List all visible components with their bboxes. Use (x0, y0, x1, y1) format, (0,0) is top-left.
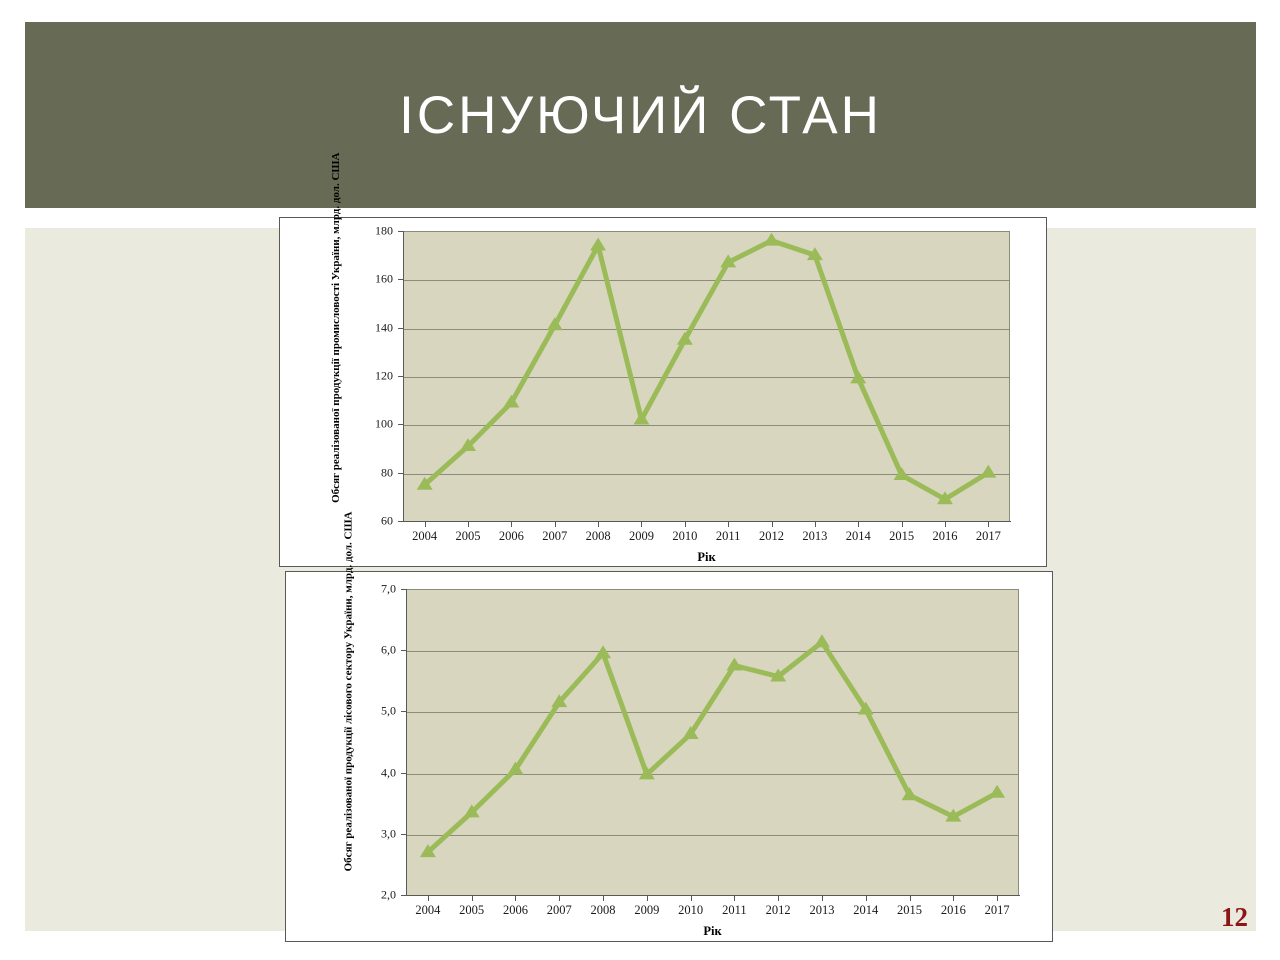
chart-forest-marker (726, 658, 742, 671)
chart-forest: Обсяг реалізованої продукції лісового се… (286, 572, 1052, 941)
chart-industry-line (425, 241, 989, 500)
chart-forest-marker (595, 645, 611, 658)
chart-forest-marker (814, 634, 830, 647)
page-title: Існуючий стан (25, 22, 1256, 208)
chart-forest-line (428, 642, 997, 852)
chart-industry: Обсяг реалізованої продукції промисловос… (280, 218, 1046, 566)
chart-industry-marker (850, 370, 866, 383)
page-number: 12 (1221, 902, 1248, 933)
chart-forest-marker (989, 785, 1005, 798)
chart-industry-marker (980, 465, 996, 478)
chart-industry-frame: Обсяг реалізованої продукції промисловос… (279, 217, 1047, 567)
chart-forest-frame: Обсяг реалізованої продукції лісового се… (285, 571, 1053, 942)
chart-industry-marker (764, 233, 780, 246)
chart-industry-marker (590, 238, 606, 251)
chart-forest-series (286, 572, 1054, 943)
slide-header-band: Існуючий стан (25, 22, 1256, 208)
chart-industry-series (280, 218, 1048, 568)
chart-industry-marker (894, 467, 910, 480)
